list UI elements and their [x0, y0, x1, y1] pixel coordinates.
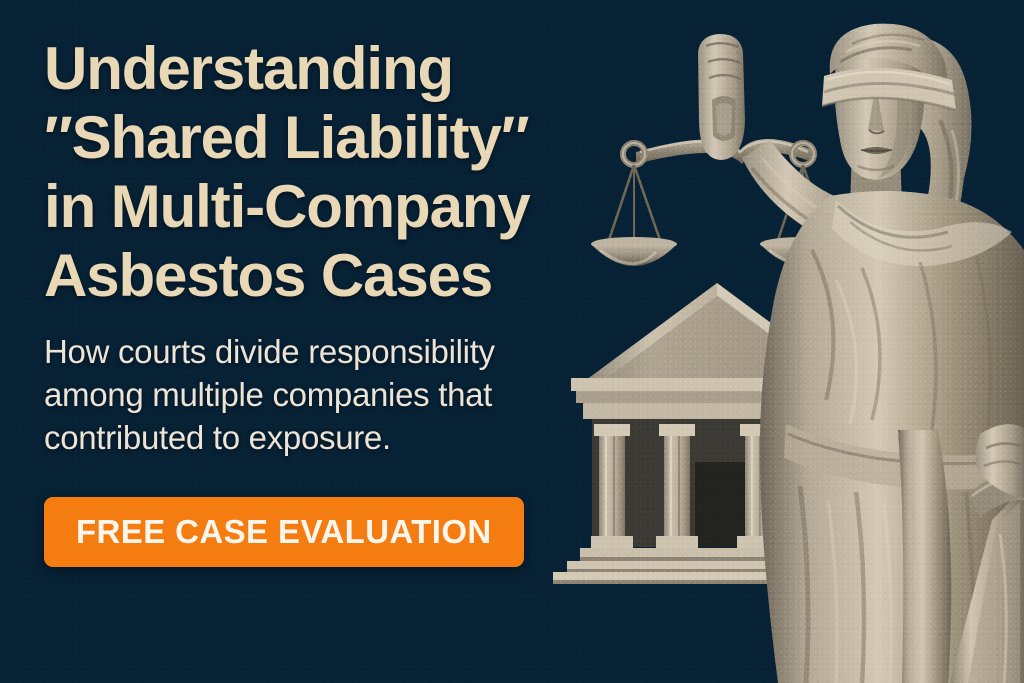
- page-title: Understanding ″Shared Liability″ in Mult…: [44, 34, 644, 310]
- subtitle-line-2: among multiple companies that: [44, 373, 644, 416]
- headline-line-1: Understanding: [44, 34, 644, 103]
- promo-banner: Understanding ″Shared Liability″ in Mult…: [0, 0, 1024, 683]
- banner-content: Understanding ″Shared Liability″ in Mult…: [44, 34, 644, 567]
- lady-justice-statue-icon: [742, 24, 1024, 683]
- raised-fist-icon: [698, 34, 745, 160]
- headline-line-3: in Multi-Company: [44, 172, 644, 241]
- lower-hand-icon: [975, 424, 1024, 498]
- headline-line-4: Asbestos Cases: [44, 241, 644, 310]
- sword-icon: [950, 470, 1024, 683]
- headline-line-2: ″Shared Liability″: [44, 103, 644, 172]
- subtitle-line-1: How courts divide responsibility: [44, 330, 644, 373]
- robe-drape-overlay: [898, 430, 951, 683]
- subtitle-line-3: contributed to exposure.: [44, 416, 644, 459]
- free-case-evaluation-button[interactable]: FREE CASE EVALUATION: [44, 497, 524, 567]
- page-subtitle: How courts divide responsibility among m…: [44, 330, 644, 459]
- blindfold-icon: [822, 68, 956, 110]
